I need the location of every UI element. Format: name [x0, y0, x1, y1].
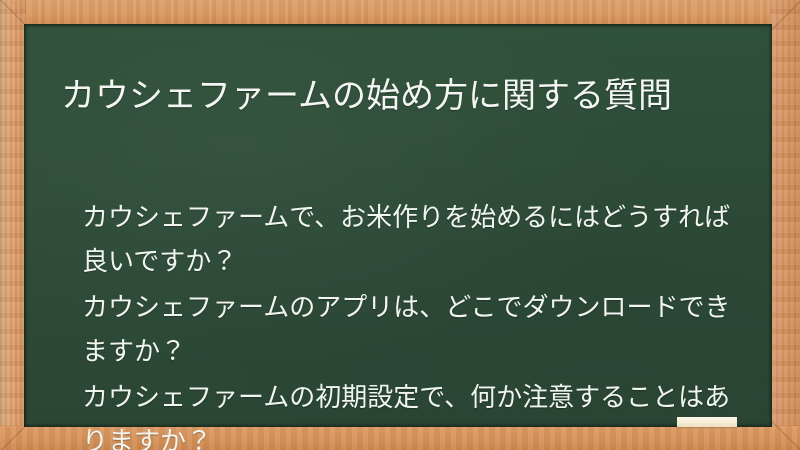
question-item-1: カウシェファームで、お米作りを始めるにはどうすれば良いですか？: [82, 196, 742, 284]
frame-left-rail: [0, 0, 26, 450]
chalkboard-slide: カウシェファームの始め方に関する質問 カウシェファームで、お米作りを始めるにはど…: [0, 0, 800, 450]
question-item-3: カウシェファームの初期設定で、何か注意することはありますか？: [82, 376, 742, 450]
slide-title: カウシェファームの始め方に関する質問: [61, 73, 761, 119]
frame-top-rail: [0, 0, 800, 26]
chalk-stick-icon: [677, 417, 737, 427]
chalkboard-surface: カウシェファームの始め方に関する質問 カウシェファームで、お米作りを始めるにはど…: [24, 24, 772, 427]
frame-right-rail: [770, 0, 800, 450]
question-list: カウシェファームで、お米作りを始めるにはどうすれば良いですか？ カウシェファーム…: [82, 170, 742, 450]
question-item-2: カウシェファームのアプリは、どこでダウンロードできますか？: [82, 286, 742, 374]
